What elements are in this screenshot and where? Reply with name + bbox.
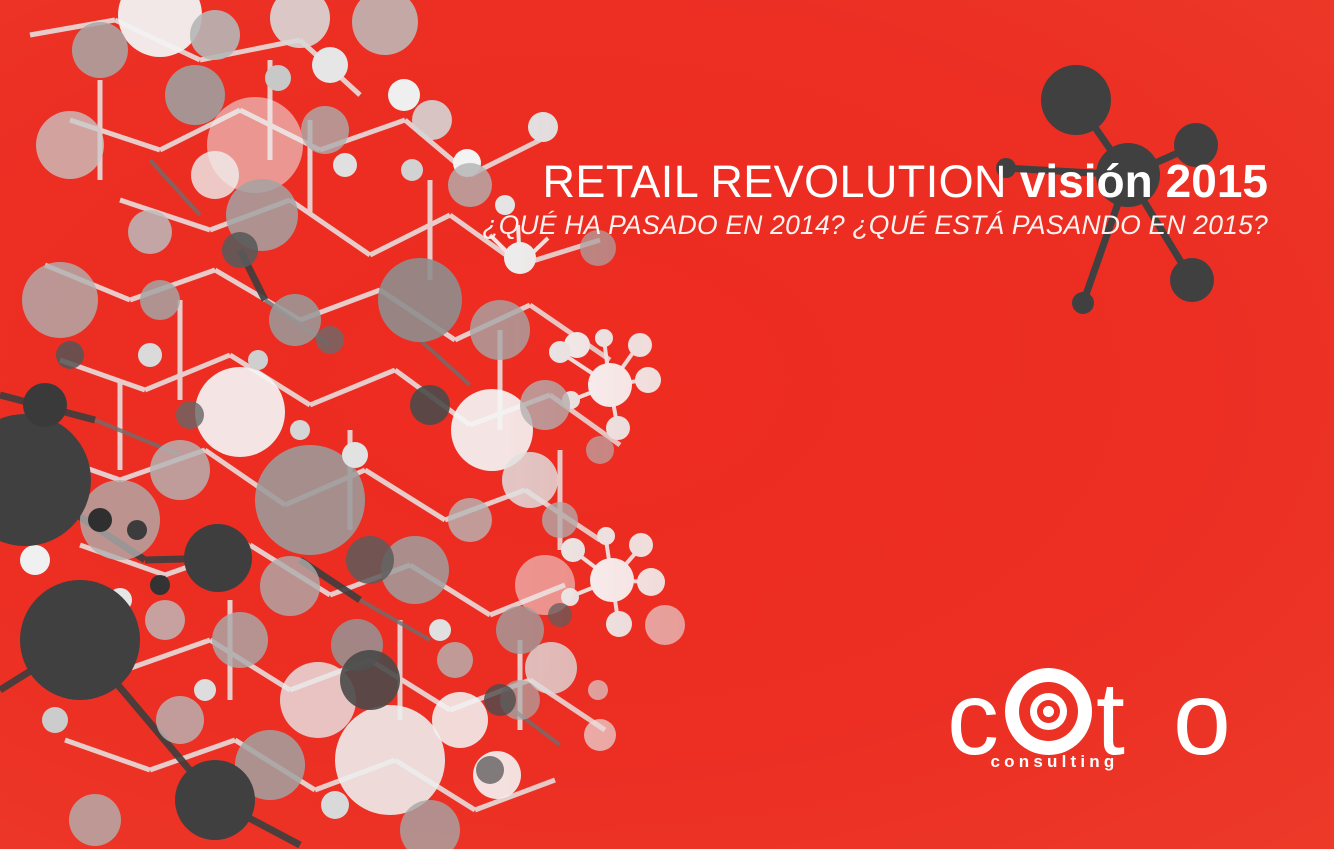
title-bold-word: visión xyxy=(1020,155,1153,207)
title-bold-year: 2015 xyxy=(1166,155,1268,207)
bullseye-icon xyxy=(1005,668,1092,755)
presentation-slide: RETAIL REVOLUTION visión 2015 ¿QUÉ HA PA… xyxy=(0,0,1334,849)
logo-letter-t: t xyxy=(1096,667,1125,771)
logo-wordmark: c t o xyxy=(945,655,1245,750)
headline-block: RETAIL REVOLUTION visión 2015 ¿QUÉ HA PA… xyxy=(0,158,1268,239)
brand-logo: c t o consulting xyxy=(945,655,1245,772)
bullseye-dot-icon xyxy=(1043,706,1054,717)
page-title: RETAIL REVOLUTION visión 2015 xyxy=(0,158,1268,204)
logo-letter-o: o xyxy=(1173,667,1231,771)
page-subtitle: ¿QUÉ HA PASADO EN 2014? ¿QUÉ ESTÁ PASAND… xyxy=(0,212,1268,239)
logo-letter-c: c xyxy=(947,667,999,771)
title-light-text: RETAIL REVOLUTION xyxy=(543,156,1007,207)
